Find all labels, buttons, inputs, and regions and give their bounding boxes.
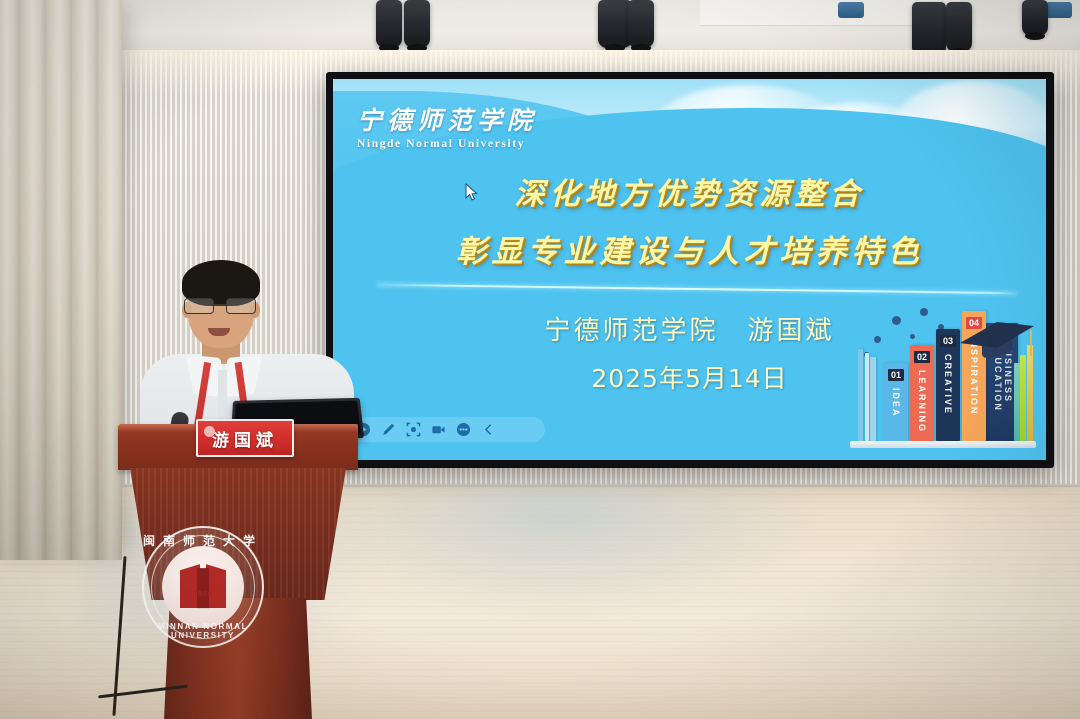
emblem-book-icon: [180, 564, 226, 608]
stage-light: [946, 2, 972, 52]
graduation-cap-icon: [960, 316, 1034, 356]
projector: [1022, 0, 1048, 36]
cap-tassel: [1030, 330, 1032, 356]
nameplate-seal-icon: [204, 426, 215, 437]
more-options-icon[interactable]: [454, 420, 473, 439]
logo-text-cn: 宁德师范学院: [357, 101, 537, 137]
emblem-text-cn: 闽南师范大学: [142, 532, 264, 549]
slide-logo: 宁德师范学院 Ningde Normal University: [357, 101, 537, 150]
stage-curtain: [0, 0, 122, 560]
decor-dot: [920, 308, 928, 316]
slide-title-line1: 深化地方优势资源整合: [333, 169, 1046, 213]
presentation-screen[interactable]: 宁德师范学院 Ningde Normal University 深化地方优势资源…: [326, 72, 1054, 468]
books-illustration: BUSINESS EDUCATION 01 IDEA 02 LEARNING 0…: [848, 294, 1038, 454]
pen-icon[interactable]: [379, 420, 398, 439]
emblem-spine: [197, 568, 209, 608]
thin-book: [865, 353, 869, 441]
decor-dot: [892, 316, 901, 325]
bookshelf: [850, 441, 1036, 448]
book-01: 01 IDEA: [884, 363, 908, 441]
book-label: CREATIVE: [943, 354, 953, 415]
nameplate: 游国斌: [196, 419, 294, 457]
glasses-bridge: [214, 304, 227, 306]
lecture-hall-scene: 宁德师范学院 Ningde Normal University 深化地方优势资源…: [0, 0, 1080, 719]
slide-title-line2: 彰显专业建设与人才培养特色: [333, 226, 1046, 271]
slide-title-block: 深化地方优势资源整合 彰显专业建设与人才培养特色: [333, 169, 1046, 271]
pencil: [1020, 355, 1026, 441]
stage-light: [376, 0, 402, 48]
emblem-year: 1958: [162, 591, 244, 598]
decor-dot: [874, 336, 881, 343]
pencil: [1014, 363, 1020, 441]
book-label: LEARNING: [917, 370, 927, 433]
thin-book: [870, 357, 876, 441]
emblem-disc: 1958: [162, 546, 244, 628]
curtain-shading: [0, 0, 122, 560]
university-emblem: 1958 闽南师范大学 MINNAN NORMAL UNIVERSITY: [142, 526, 264, 648]
book-number: 03: [940, 335, 956, 347]
video-camera-icon[interactable]: [429, 420, 448, 439]
lens-left: [184, 298, 214, 314]
emblem-text-en: MINNAN NORMAL UNIVERSITY: [142, 622, 264, 640]
ceiling-fixture: [838, 2, 864, 18]
book-02: 02 LEARNING: [910, 345, 934, 441]
ceiling-fixture: [1046, 2, 1072, 18]
slide-divider-line: [377, 284, 1017, 294]
nameplate-text: 游国斌: [212, 426, 278, 451]
pencil: [1027, 345, 1033, 441]
stage-light: [912, 2, 946, 56]
book-number: 02: [914, 351, 930, 363]
book-03: 03 CREATIVE: [936, 329, 960, 441]
stage-light: [598, 0, 632, 48]
decor-dot: [910, 334, 915, 339]
emblem-page-right: [206, 564, 226, 608]
slide-canvas[interactable]: 宁德师范学院 Ningde Normal University 深化地方优势资源…: [333, 79, 1046, 460]
stage-light: [404, 0, 430, 48]
glasses-icon: [182, 298, 260, 315]
logo-text-en: Ningde Normal University: [357, 138, 537, 150]
presentation-toolbar[interactable]: [345, 417, 545, 442]
lens-right: [226, 298, 256, 314]
laser-pointer-icon[interactable]: [404, 420, 423, 439]
book-label: IDEA: [891, 388, 901, 418]
thin-book: [858, 349, 863, 441]
book-number: 01: [888, 369, 904, 381]
stage-light: [628, 0, 654, 48]
podium: 1958 闽南师范大学 MINNAN NORMAL UNIVERSITY 游国斌: [118, 424, 358, 719]
collapse-chevron-left-icon[interactable]: [479, 420, 498, 439]
